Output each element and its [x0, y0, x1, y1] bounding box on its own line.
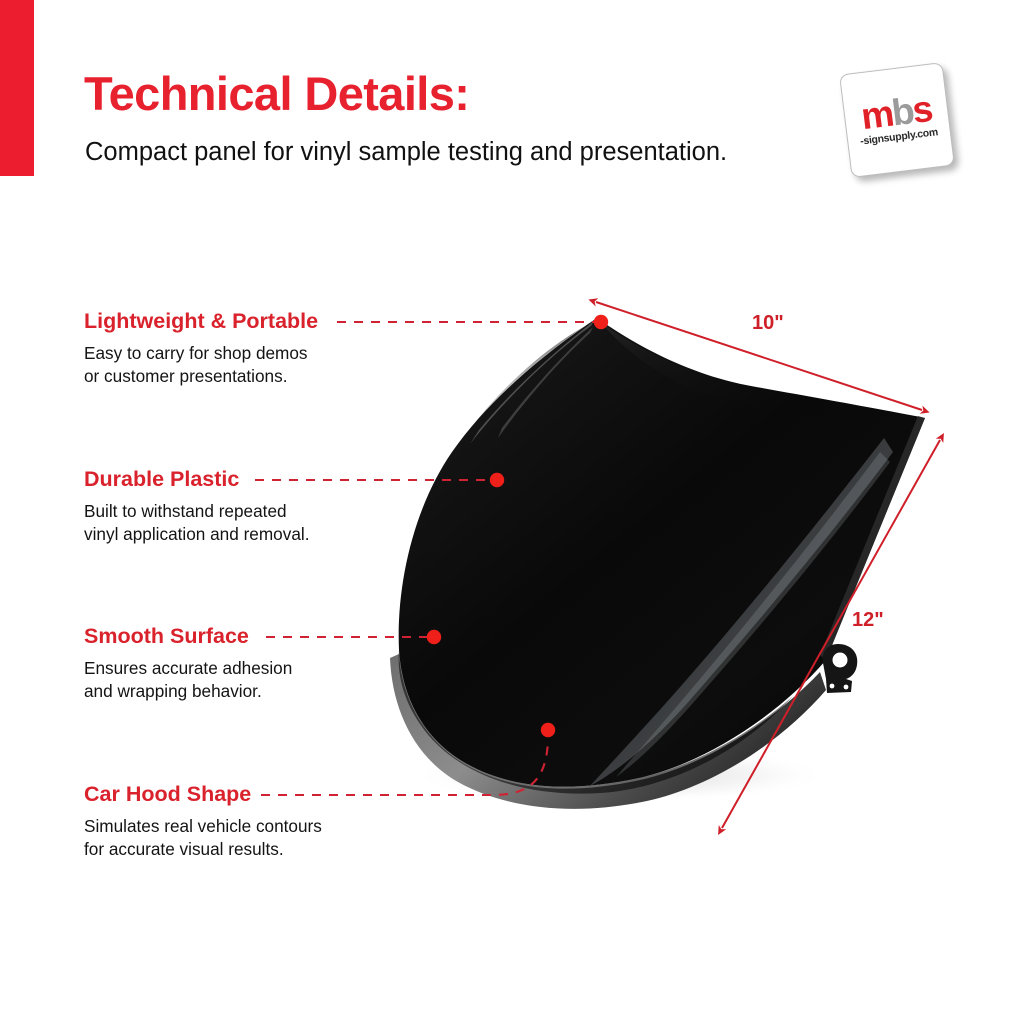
- feature-block-lightweight-portable: Lightweight & Portable Easy to carry for…: [84, 311, 414, 389]
- logo-letter-s: s: [910, 88, 933, 131]
- feature-description: Ensures accurate adhesion and wrapping b…: [84, 657, 414, 704]
- hood-bottom-rim: [390, 654, 826, 809]
- hood-gloss-reflection: [590, 438, 893, 786]
- dimension-arrow-length: [722, 440, 940, 828]
- logo-letter-m: m: [859, 93, 895, 137]
- red-accent-bar: [0, 0, 34, 176]
- feature-block-smooth-surface: Smooth Surface Ensures accurate adhesion…: [84, 626, 414, 704]
- feature-title: Smooth Surface: [84, 626, 414, 648]
- hood-crown-sheen: [473, 318, 925, 436]
- hood-body: [399, 318, 925, 787]
- callout-dot-car-hood-shape: [541, 723, 555, 737]
- feature-description: Easy to carry for shop demos or customer…: [84, 342, 414, 389]
- callout-dots: [427, 315, 608, 737]
- callout-dot-smooth-surface: [427, 630, 441, 644]
- callout-dot-lightweight-portable: [594, 315, 608, 329]
- hood-mounting-bracket-icon: [823, 644, 858, 693]
- page-title: Technical Details:: [84, 70, 469, 117]
- feature-description: Built to withstand repeated vinyl applic…: [84, 500, 414, 547]
- feature-description: Simulates real vehicle contours for accu…: [84, 815, 414, 862]
- hood-crease-line: [498, 327, 593, 438]
- feature-title: Car Hood Shape: [84, 784, 414, 806]
- callout-dot-durable-plastic: [490, 473, 504, 487]
- hood-nose-shading: [399, 650, 793, 794]
- feature-title: Lightweight & Portable: [84, 311, 414, 333]
- page-subtitle: Compact panel for vinyl sample testing a…: [85, 138, 727, 166]
- feature-block-car-hood-shape: Car Hood Shape Simulates real vehicle co…: [84, 784, 414, 862]
- feature-title: Durable Plastic: [84, 469, 414, 491]
- product-shadow: [410, 747, 830, 803]
- brand-logo[interactable]: mbs -signsupply.com: [839, 62, 955, 178]
- hood-gloss-reflection-core: [616, 452, 890, 777]
- dimension-label-width: 10": [752, 312, 784, 335]
- hood-leading-edge-highlight: [470, 321, 594, 444]
- feature-block-durable-plastic: Durable Plastic Built to withstand repea…: [84, 469, 414, 547]
- dimension-label-length: 12": [852, 609, 884, 632]
